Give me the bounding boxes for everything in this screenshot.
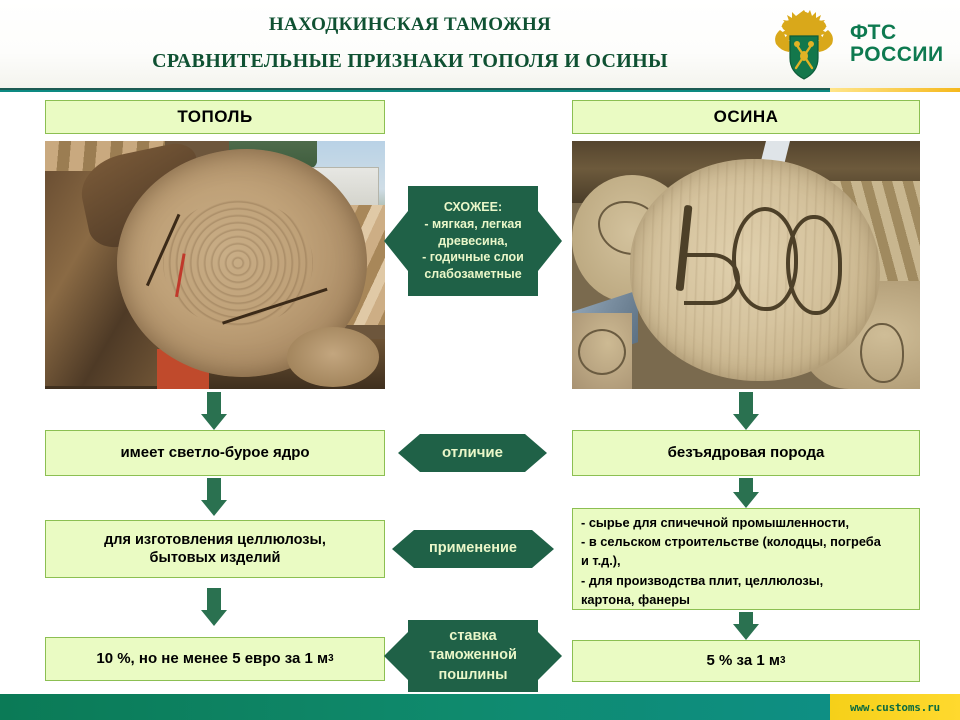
similarity-line3: - годичные слои <box>422 249 524 266</box>
row-duty-label: ставка таможенной пошлины <box>408 620 538 692</box>
callout-arrow-right <box>538 211 562 271</box>
header-titles: НАХОДКИНСКАЯ ТАМОЖНЯ СРАВНИТЕЛЬНЫЕ ПРИЗН… <box>60 4 760 76</box>
photo-digit-mark <box>786 215 842 315</box>
arrow-shaft <box>207 392 221 416</box>
photo-pencil-mark <box>578 329 626 375</box>
row-duty-label-line2: таможенной <box>429 646 517 666</box>
header-title-line1: НАХОДКИНСКАЯ ТАМОЖНЯ <box>60 10 760 40</box>
arrow-head <box>201 610 227 626</box>
slide-header: НАХОДКИНСКАЯ ТАМОЖНЯ СРАВНИТЕЛЬНЫЕ ПРИЗН… <box>0 0 960 88</box>
row-application-left-line1: для изготовления целлюлозы, <box>104 531 326 549</box>
arrow-down-left-3 <box>201 588 227 626</box>
row-duty-left-text: 10 %, но не менее 5 евро за 1 м <box>96 650 328 669</box>
photo-poplar-log <box>45 141 385 389</box>
row-difference-label-text: отличие <box>442 443 503 463</box>
similarity-heading: СХОЖЕЕ: <box>444 199 502 216</box>
row-duty-right-box: 5 % за 1 м3 <box>572 640 920 682</box>
row-application-right-line3: и т.д.), <box>581 551 621 570</box>
callout-arrow-left <box>384 211 408 271</box>
arrow-head <box>733 414 759 430</box>
callout-arrow-right <box>538 632 562 680</box>
column-title-poplar: ТОПОЛЬ <box>45 100 385 134</box>
russian-customs-emblem-icon <box>768 6 840 82</box>
arrow-down-right-2 <box>733 478 759 508</box>
arrow-head <box>201 500 227 516</box>
footer-url-text[interactable]: www.customs.ru <box>850 701 940 714</box>
arrow-shaft <box>739 392 753 416</box>
arrow-head <box>201 414 227 430</box>
similarity-line2: древесина, <box>438 233 507 250</box>
fts-logo-line2: РОССИИ <box>850 44 944 66</box>
arrow-down-left-1 <box>201 392 227 430</box>
callout-arrow-right <box>525 434 547 472</box>
row-duty-left-sup: 3 <box>328 653 334 665</box>
row-duty-left-box: 10 %, но не менее 5 евро за 1 м3 <box>45 637 385 681</box>
row-duty-right-sup: 3 <box>780 655 786 667</box>
row-duty-label-line1: ставка <box>449 627 496 647</box>
arrow-head <box>733 624 759 640</box>
row-application-label-text: применение <box>429 539 517 559</box>
column-title-aspen: ОСИНА <box>572 100 920 134</box>
photo-log-secondary <box>287 327 379 387</box>
photo-aspen-log <box>572 141 920 389</box>
footer-bar <box>0 694 830 720</box>
header-divider-gold <box>830 88 960 92</box>
row-application-right-line2: - в сельском строительстве (колодцы, пог… <box>581 532 881 551</box>
photo-pencil-mark <box>860 323 904 383</box>
row-difference-right-box: безъядровая порода <box>572 430 920 476</box>
row-duty-right-text: 5 % за 1 м <box>707 652 780 671</box>
header-title-line2: СРАВНИТЕЛЬНЫЕ ПРИЗНАКИ ТОПОЛЯ И ОСИНЫ <box>60 46 760 76</box>
footer-url-panel: www.customs.ru <box>830 694 960 720</box>
row-duty-label-line3: пошлины <box>439 666 508 686</box>
row-application-left-line2: бытовых изделий <box>150 549 281 567</box>
similarity-callout: СХОЖЕЕ: - мягкая, легкая древесина, - го… <box>408 186 538 296</box>
row-application-label: применение <box>414 530 532 568</box>
arrow-down-left-2 <box>201 478 227 516</box>
arrow-shaft <box>207 478 221 502</box>
arrow-head <box>733 492 759 508</box>
row-application-left-box: для изготовления целлюлозы, бытовых изде… <box>45 520 385 578</box>
callout-arrow-left <box>392 530 414 568</box>
row-application-right-line4: - для производства плит, целлюлозы, <box>581 571 823 590</box>
callout-arrow-left <box>384 632 408 680</box>
similarity-line1: - мягкая, легкая <box>424 216 521 233</box>
row-application-right-line1: - сырье для спичечной промышленности, <box>581 513 849 532</box>
row-application-right-box: - сырье для спичечной промышленности, - … <box>572 508 920 610</box>
fts-logo-line1: ФТС <box>850 22 944 44</box>
callout-arrow-left <box>398 434 420 472</box>
header-divider-dark <box>0 88 830 90</box>
fts-logo-text: ФТС РОССИИ <box>850 22 944 66</box>
arrow-down-right-1 <box>733 392 759 430</box>
callout-arrow-right <box>532 530 554 568</box>
row-application-right-line5: картона, фанеры <box>581 590 690 609</box>
fts-russia-logo: ФТС РОССИИ <box>758 6 938 82</box>
arrow-shaft <box>207 588 221 612</box>
row-difference-left-box: имеет светло-бурое ядро <box>45 430 385 476</box>
arrow-down-right-3 <box>733 612 759 640</box>
row-difference-label: отличие <box>420 434 525 472</box>
similarity-line4: слабозаметные <box>424 266 521 283</box>
